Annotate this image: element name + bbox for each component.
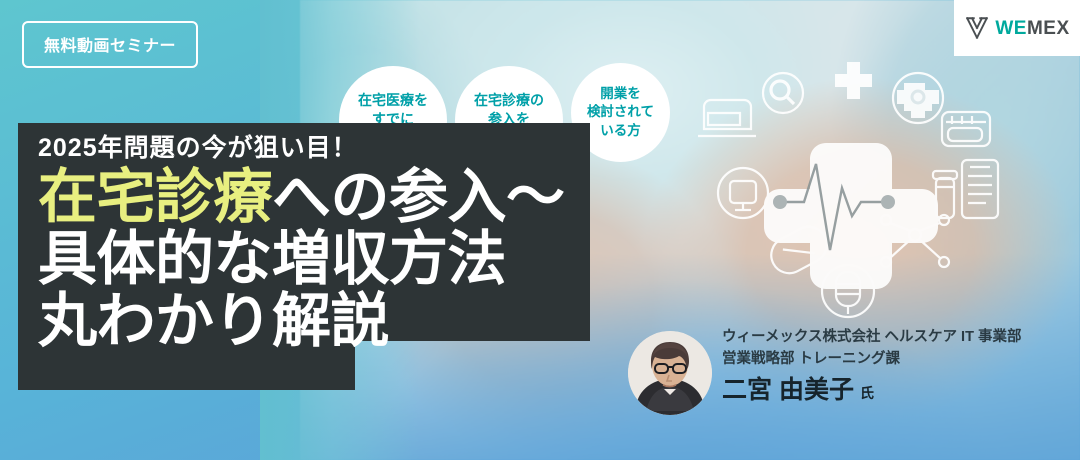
headline-kicker: 2025年問題の今が狙い目！: [38, 133, 598, 163]
wemex-logo-text-secondary: MEX: [1027, 18, 1070, 39]
headline-block: 2025年問題の今が狙い目！ 在宅診療への参入〜 具体的な増収方法 丸わかり解説: [38, 133, 598, 352]
gear-circle-icon: [893, 73, 943, 123]
headline-line-2: 具体的な増収方法: [38, 229, 598, 289]
headline-line-1-rest: への参入〜: [272, 164, 565, 230]
speaker-details: ウィーメックス株式会社 ヘルスケア IT 事業部 営業戦略部 トレーニング課 二…: [722, 327, 1021, 406]
speaker-block: ウィーメックス株式会社 ヘルスケア IT 事業部 営業戦略部 トレーニング課 二…: [628, 327, 1048, 423]
stapler-icon: [698, 100, 756, 136]
wemex-logo-text-primary: WE: [995, 18, 1027, 39]
vial-and-chart-icon: [933, 160, 998, 218]
target-circle-3-line-1: 開業を: [600, 85, 641, 104]
seminar-banner: WEMEX 無料動画セミナー 在宅医療を すでに 行っている方 在宅診療の 参入…: [0, 0, 1080, 460]
target-circle-3-line-3: いる方: [600, 122, 641, 141]
free-seminar-badge: 無料動画セミナー: [22, 21, 198, 68]
speaker-name-suffix: 氏: [860, 385, 874, 401]
wemex-logo-text: WEMEX: [995, 19, 1069, 38]
speaker-org-line-1: ウィーメックス株式会社 ヘルスケア IT 事業部: [722, 327, 1021, 349]
speaker-portrait: [628, 331, 712, 415]
target-circle-3-line-2: 検討されて: [587, 103, 654, 122]
target-circle-2-line-1: 在宅診療の: [474, 91, 544, 110]
headline-line-1-highlight: 在宅診療: [38, 164, 272, 230]
wemex-logo[interactable]: WEMEX: [954, 0, 1080, 56]
target-circle-1-line-1: 在宅医療を: [358, 91, 428, 110]
monitor-circle-icon: [718, 168, 768, 218]
headline-line-1: 在宅診療への参入〜: [38, 167, 598, 227]
wemex-x-mark-icon: [964, 15, 990, 41]
medical-icon-cluster: [690, 50, 1080, 330]
cross-plus-icon: [835, 62, 872, 99]
pill-pack-icon: [942, 112, 990, 146]
headline-line-3: 丸わかり解説: [38, 291, 598, 351]
magnifier-circle-icon: [763, 73, 803, 113]
speaker-org-line-2: 営業戦略部 トレーニング課: [722, 349, 1021, 371]
speaker-name-text: 二宮 由美子: [722, 376, 854, 404]
speaker-name: 二宮 由美子氏: [722, 374, 1021, 407]
